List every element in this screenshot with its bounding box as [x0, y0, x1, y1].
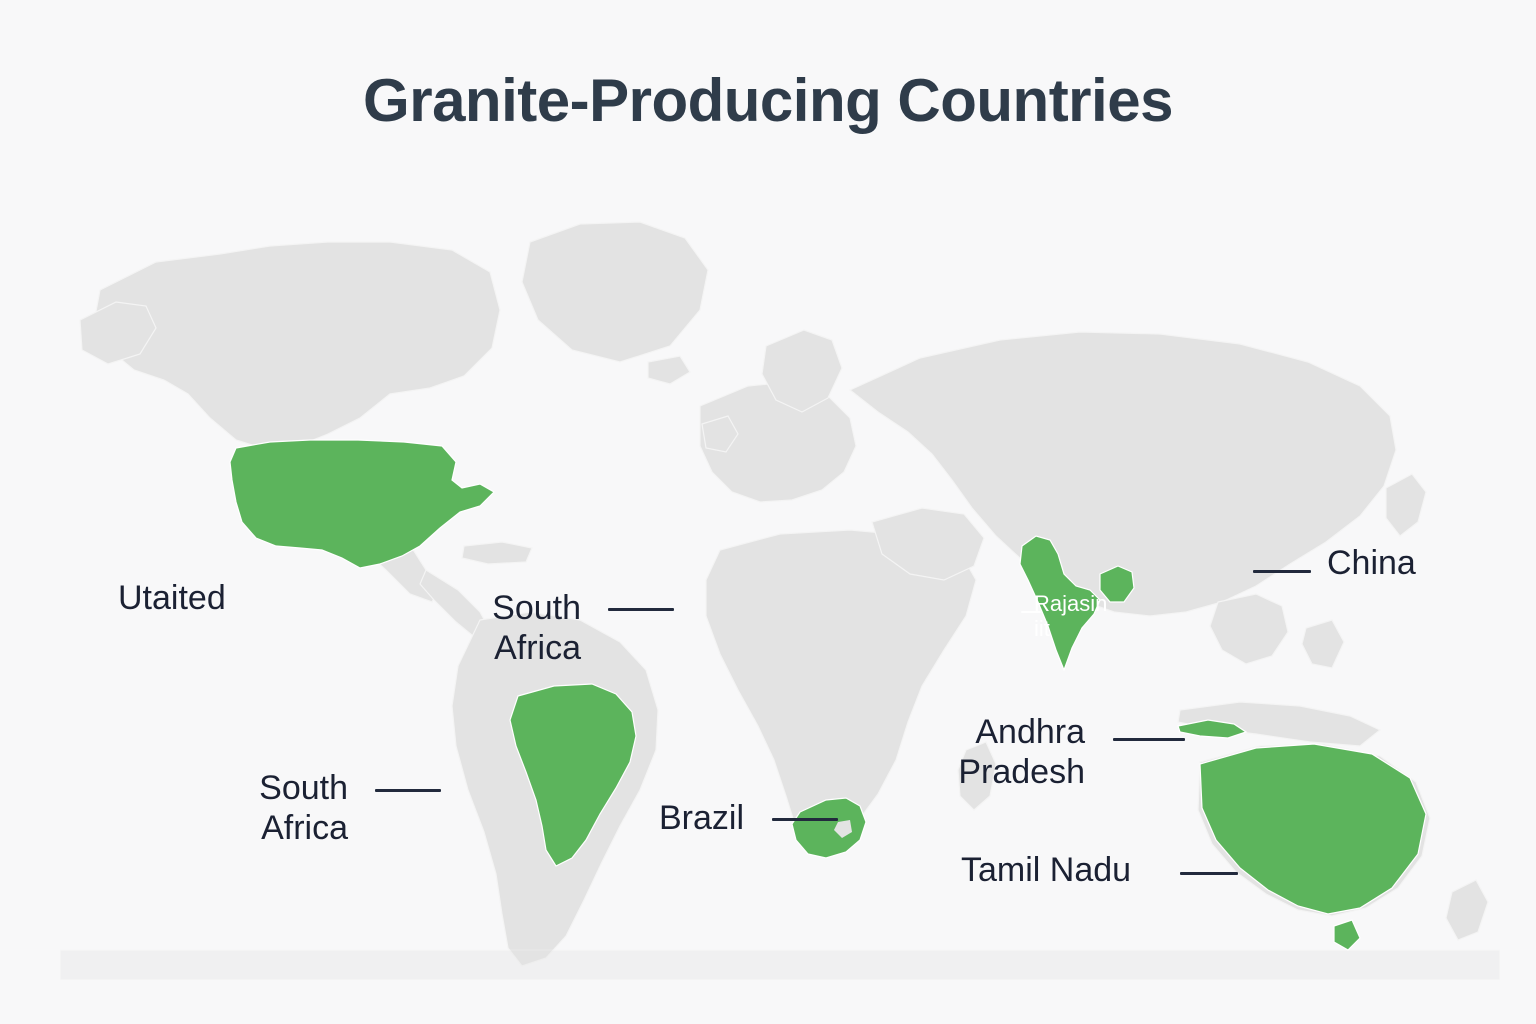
leader-line-tamil-nadu	[1180, 872, 1238, 875]
leader-line-south-africa-brazil	[375, 789, 441, 792]
land-greenland	[522, 222, 708, 362]
world-map	[60, 150, 1500, 980]
inline-label-rajasthan: Rajasin iit	[1034, 592, 1107, 641]
land-antarctica-edge	[60, 950, 1500, 980]
land-southeast-asia	[1210, 594, 1288, 664]
region-australia	[1200, 744, 1426, 914]
land-caribbean	[462, 542, 532, 564]
land-north-america	[94, 242, 500, 450]
leader-line-china	[1253, 570, 1311, 573]
region-tasmania	[1334, 920, 1360, 950]
callout-south-africa-brazil: South Africa	[188, 768, 348, 848]
land-japan	[1386, 474, 1426, 536]
leader-line-brazil	[772, 818, 838, 821]
callout-brazil: Brazil	[659, 798, 744, 838]
land-philippines	[1302, 620, 1344, 668]
map-infographic: Granite-Producing Countries	[0, 0, 1536, 1024]
page-title: Granite-Producing Countries	[0, 66, 1536, 135]
land-new-zealand	[1446, 880, 1488, 940]
leader-line-south-africa-atlantic	[608, 608, 674, 611]
region-united-states	[230, 440, 494, 568]
leader-line-andhra-pradesh	[1113, 738, 1185, 741]
callout-china: China	[1327, 543, 1416, 583]
land-iceland	[648, 356, 690, 384]
callout-south-africa-atlantic: South Africa	[421, 588, 581, 668]
callout-utaited: Utaited	[118, 578, 226, 618]
callout-tamil-nadu: Tamil Nadu	[961, 850, 1131, 890]
callout-andhra-pradesh: Andhra Pradesh	[863, 712, 1085, 792]
